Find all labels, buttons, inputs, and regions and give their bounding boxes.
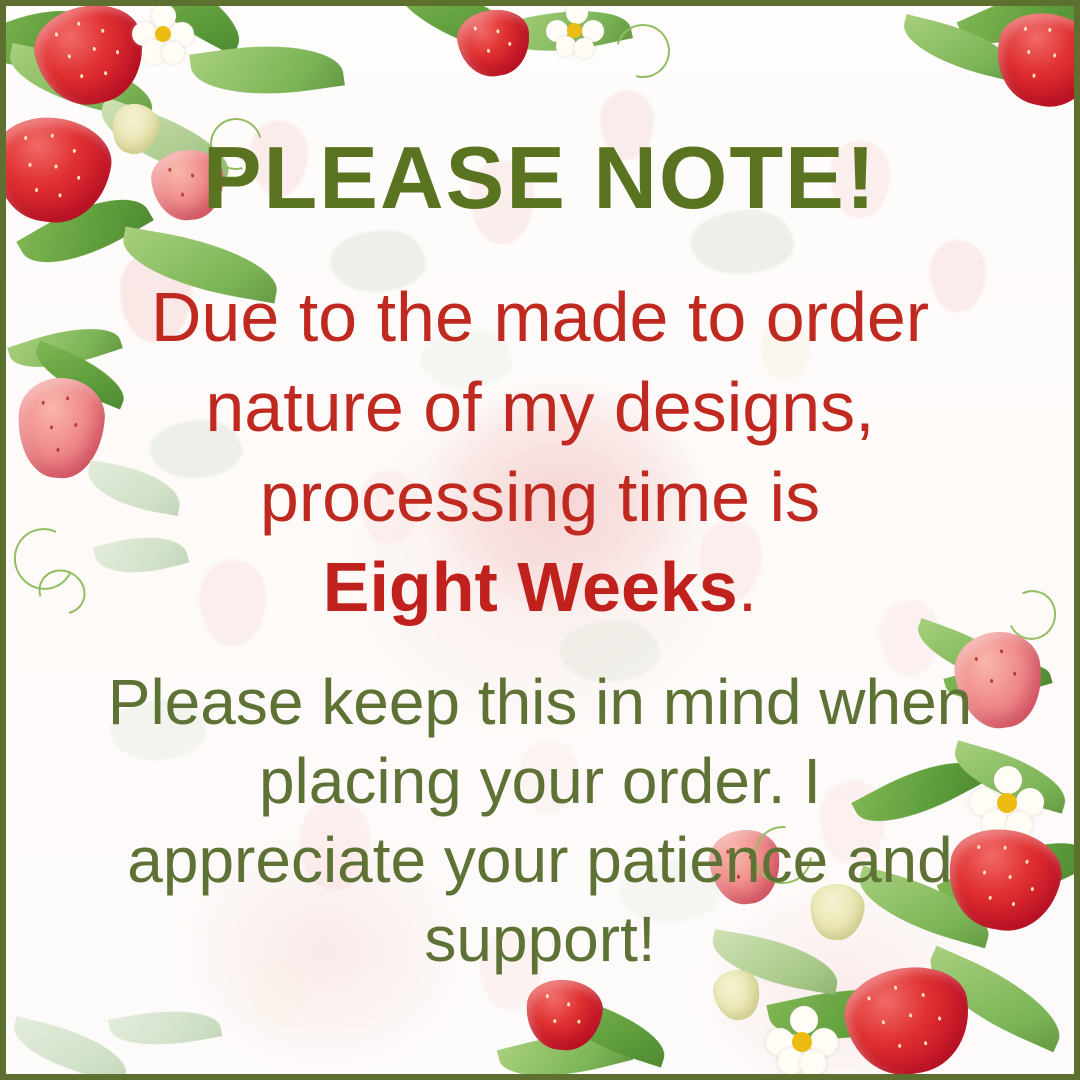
announcement-card: PLEASE NOTE! Due to the made to order na… bbox=[0, 0, 1080, 1080]
decor-bottom-right bbox=[680, 780, 1080, 1080]
flower-icon bbox=[546, 2, 604, 60]
decor-top-left bbox=[0, 0, 330, 300]
decor-bottom-left bbox=[0, 930, 300, 1080]
flower-icon bbox=[132, 4, 194, 66]
decor-top-center bbox=[380, 0, 720, 130]
decor-left-edge bbox=[0, 300, 180, 740]
flower-icon bbox=[766, 1006, 838, 1078]
decor-top-right bbox=[850, 0, 1080, 180]
decor-bottom-center bbox=[440, 930, 700, 1080]
